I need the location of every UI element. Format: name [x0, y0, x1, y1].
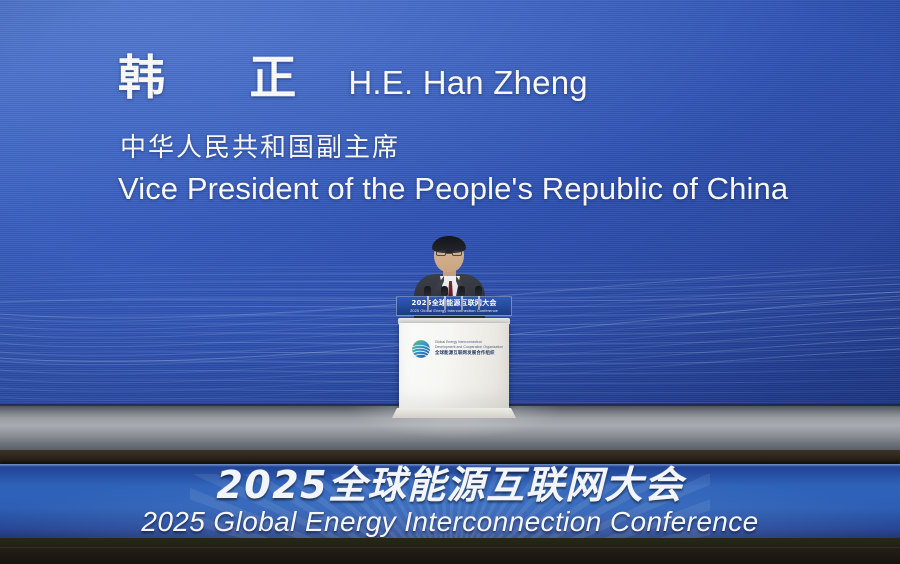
speaker-name-chinese: 韩 正	[118, 54, 330, 103]
geidco-logo: Global Energy Interconnection Developmen…	[411, 337, 503, 361]
speaker-position-chinese: 中华人民共和国副主席	[0, 127, 900, 164]
microphone-cluster	[422, 284, 486, 310]
podium-base	[392, 408, 516, 418]
speaker-at-podium: 2025全球能源互联网大会 2025 Global Energy Interco…	[394, 236, 514, 426]
geidco-name-line2: Development and Cooperation Organization	[435, 346, 503, 349]
microphone-icon	[424, 286, 431, 310]
floor-seam-line	[0, 547, 900, 548]
microphone-icon	[458, 286, 465, 310]
speaker-name-english: H.E. Han Zheng	[348, 64, 587, 102]
banner-title-chinese: 2025全球能源互联网大会	[0, 466, 900, 505]
geidco-name-chinese: 全球能源互联网发展合作组织	[435, 352, 503, 356]
speaker-name-line: 韩 正 H.E. Han Zheng	[0, 54, 900, 103]
globe-icon	[411, 339, 431, 359]
geidco-name-line1: Global Energy Interconnection	[435, 341, 503, 344]
speaker-title-block: 韩 正 H.E. Han Zheng 中华人民共和国副主席 Vice Presi…	[0, 54, 900, 207]
speaker-glasses-icon	[436, 250, 462, 257]
front-floor-area	[0, 538, 900, 564]
conference-banner: 2025全球能源互联网大会 2025 Global Energy Interco…	[0, 464, 900, 538]
microphone-icon	[475, 286, 482, 310]
conference-stage-photo: 韩 正 H.E. Han Zheng 中华人民共和国副主席 Vice Presi…	[0, 0, 900, 564]
microphone-icon	[441, 286, 448, 310]
geidco-logo-text: Global Energy Interconnection Developmen…	[435, 341, 503, 356]
podium: 2025全球能源互联网大会 2025 Global Energy Interco…	[394, 318, 514, 426]
podium-front-panel: Global Energy Interconnection Developmen…	[399, 323, 509, 409]
speaker-position-english: Vice President of the People's Republic …	[0, 171, 900, 207]
banner-title-english: 2025 Global Energy Interconnection Confe…	[0, 508, 900, 536]
